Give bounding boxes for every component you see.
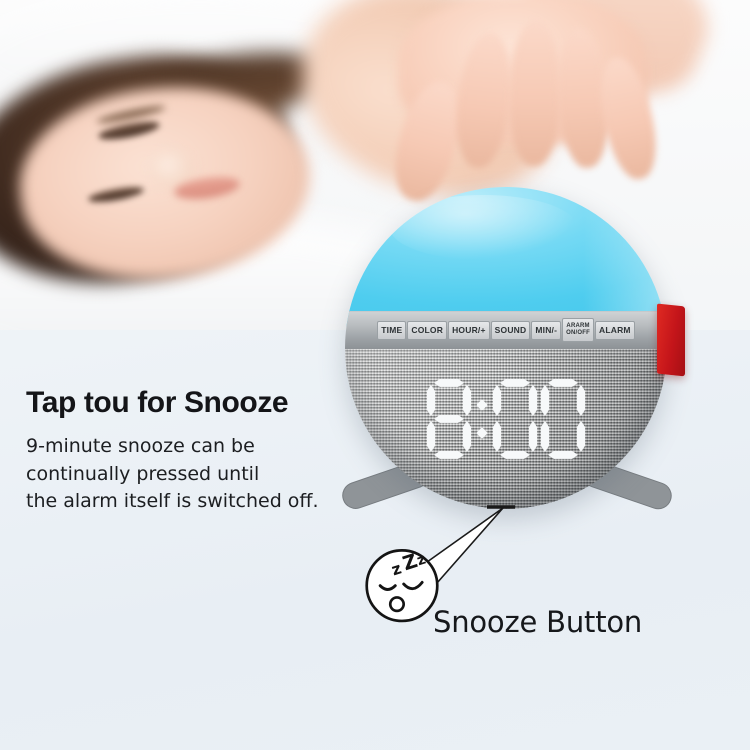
body-line-1: 9-minute snooze can be xyxy=(26,433,366,461)
button-color[interactable]: COLOR xyxy=(407,321,447,340)
sleeping-face-icon: z Z z xyxy=(360,542,444,626)
button-alarm[interactable]: ALARM xyxy=(595,321,635,340)
product-feature-graphic: TIME COLOR HOUR/+ SOUND MIN/- ARARM ON/O… xyxy=(0,0,750,750)
button-min-minus[interactable]: MIN/- xyxy=(531,321,561,340)
alarm-indicator-icon xyxy=(605,480,619,493)
button-alarm-on-off-line2: ON/OFF xyxy=(566,330,590,337)
button-time[interactable]: TIME xyxy=(377,321,406,340)
button-hour-plus[interactable]: HOUR/+ xyxy=(448,321,490,340)
dome-highlight xyxy=(583,187,667,327)
headline: Tap tou for Snooze xyxy=(26,386,366,419)
button-alarm-on-off[interactable]: ARARM ON/OFF xyxy=(562,318,594,342)
body-line-3: the alarm itself is switched off. xyxy=(26,488,366,516)
body-line-2: continually pressed until xyxy=(26,461,366,489)
snooze-button-label: Snooze Button xyxy=(433,605,642,639)
button-alarm-on-off-line1: ARARM xyxy=(566,323,590,330)
control-bezel: TIME COLOR HOUR/+ SOUND MIN/- ARARM ON/O… xyxy=(345,311,667,350)
reaching-hand xyxy=(372,0,702,209)
button-sound[interactable]: SOUND xyxy=(491,321,531,340)
clock-body: TIME COLOR HOUR/+ SOUND MIN/- ARARM ON/O… xyxy=(345,187,667,509)
red-accent-tab xyxy=(657,304,685,377)
body-text: 9-minute snooze can be continually press… xyxy=(26,433,366,516)
feature-copy: Tap tou for Snooze 9-minute snooze can b… xyxy=(26,386,366,516)
snooze-callout: z Z z Snooze Button xyxy=(355,500,695,660)
alarm-clock: TIME COLOR HOUR/+ SOUND MIN/- ARARM ON/O… xyxy=(345,187,667,509)
